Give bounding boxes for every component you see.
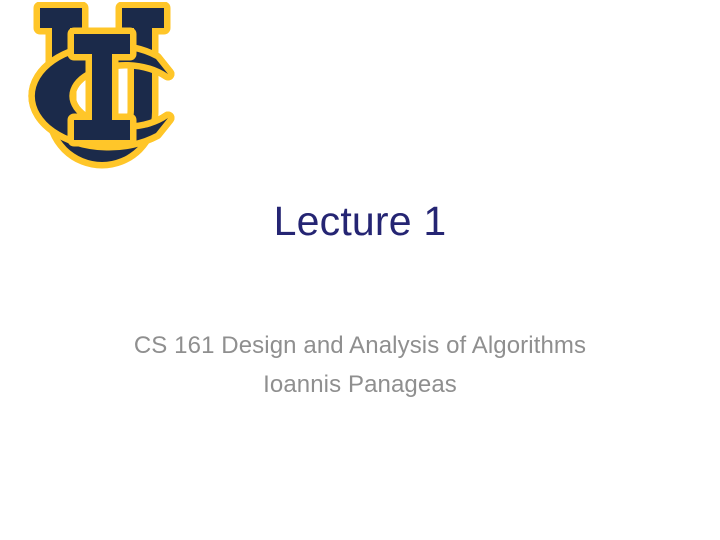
uci-logo bbox=[6, 2, 196, 188]
presentation-slide: Lecture 1 CS 161 Design and Analysis of … bbox=[0, 0, 720, 540]
slide-title: Lecture 1 bbox=[0, 196, 720, 246]
subtitle-author-line: Ioannis Panageas bbox=[0, 365, 720, 404]
slide-title-text: Lecture 1 bbox=[274, 196, 447, 246]
uci-logo-icon bbox=[6, 2, 196, 188]
subtitle-course-line: CS 161 Design and Analysis of Algorithms bbox=[0, 326, 720, 365]
slide-subtitle: CS 161 Design and Analysis of Algorithms… bbox=[0, 326, 720, 404]
